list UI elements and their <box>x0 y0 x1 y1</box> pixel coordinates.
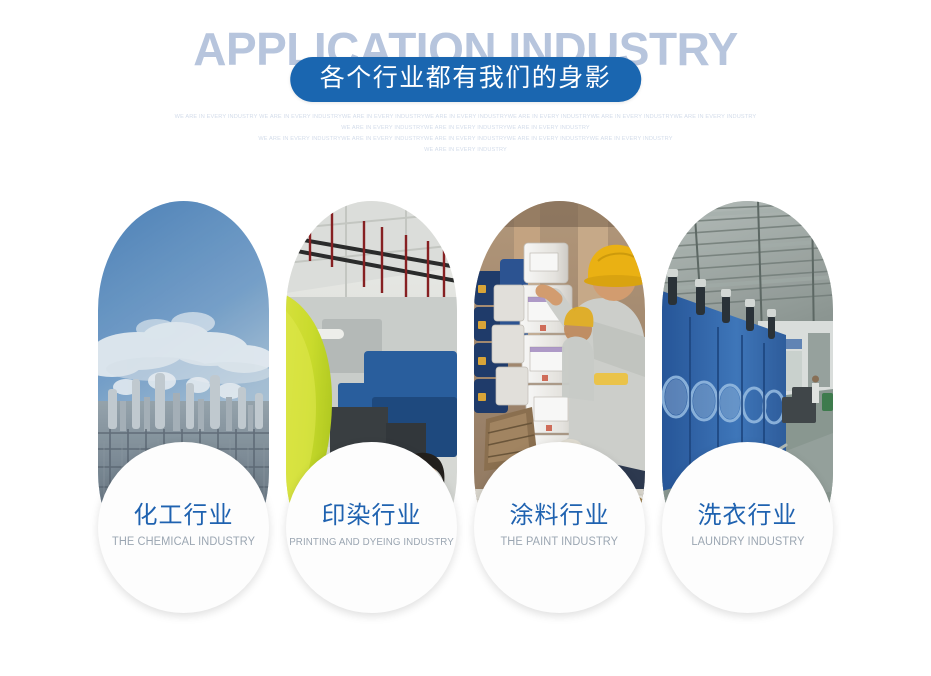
industry-badge-laundry: 洗衣行业 LAUNDRY INDUSTRY <box>662 442 833 613</box>
industry-badge-paint: 涂料行业 THE PAINT INDUSTRY <box>474 442 645 613</box>
subcopy-line-4: WE ARE IN EVERY INDUSTRY <box>0 145 931 156</box>
industry-badge-printing-dyeing: 印染行业 PRINTING AND DYEING INDUSTRY <box>286 442 457 613</box>
industry-card-printing-dyeing[interactable]: 印染行业 PRINTING AND DYEING INDUSTRY <box>286 201 457 613</box>
industry-name-en: LAUNDRY INDUSTRY <box>691 536 804 548</box>
industry-name-cn: 涂料行业 <box>510 501 610 530</box>
industry-badge-chemical: 化工行业 THE CHEMICAL INDUSTRY <box>98 442 269 613</box>
industry-name-cn: 洗衣行业 <box>698 501 798 530</box>
industry-name-en: PRINTING AND DYEING INDUSTRY <box>289 536 454 548</box>
subcopy-line-2: WE ARE IN EVERY INDUSTRYWE ARE IN EVERY … <box>0 123 931 134</box>
page-header: APPLICATION INDUSTRY 各个行业都有我们的身影 WE ARE … <box>0 0 931 170</box>
industry-name-en: THE PAINT INDUSTRY <box>501 536 619 548</box>
industry-name-cn: 化工行业 <box>134 501 234 530</box>
industry-name-en: THE CHEMICAL INDUSTRY <box>112 536 255 548</box>
industry-card-laundry[interactable]: 洗衣行业 LAUNDRY INDUSTRY <box>662 201 833 613</box>
headline-badge: 各个行业都有我们的身影 <box>290 57 642 102</box>
subcopy-line-3: WE ARE IN EVERY INDUSTRYWE ARE IN EVERY … <box>0 134 931 145</box>
decorative-subcopy: WE ARE IN EVERY INDUSTRY WE ARE IN EVERY… <box>0 112 931 156</box>
industry-card-chemical[interactable]: 化工行业 THE CHEMICAL INDUSTRY <box>98 201 269 613</box>
industry-card-list: 化工行业 THE CHEMICAL INDUSTRY <box>98 201 834 613</box>
industry-card-paint[interactable]: 涂料行业 THE PAINT INDUSTRY <box>474 201 645 613</box>
industry-name-cn: 印染行业 <box>322 501 422 530</box>
subcopy-line-1: WE ARE IN EVERY INDUSTRY WE ARE IN EVERY… <box>0 112 931 123</box>
